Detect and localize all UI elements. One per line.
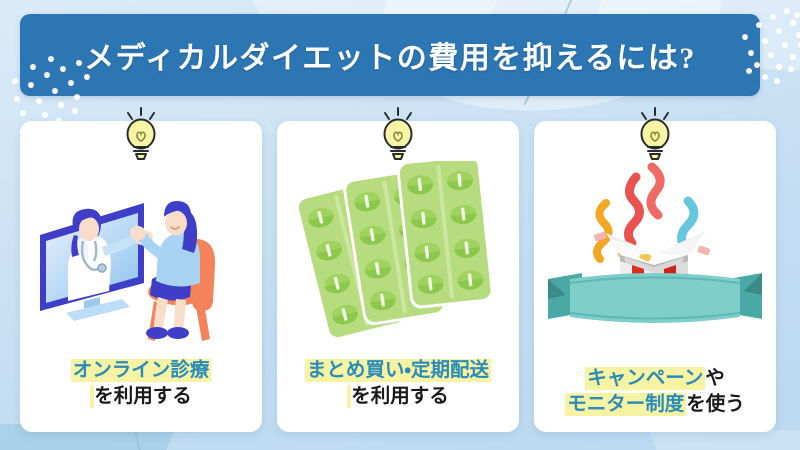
header-banner: メディカルダイエットの費用を抑えるには?	[20, 14, 760, 96]
caption-plain-1: や	[705, 368, 725, 389]
card-caption: まとめ買い・定期配送 を利用する	[277, 358, 519, 410]
caption-line-2: を利用する	[20, 384, 262, 410]
caption-plain-2: を利用する	[351, 386, 449, 407]
gift-box-with-confetti-illustration	[534, 161, 776, 351]
caption-line-2: を利用する	[277, 384, 519, 410]
caption-highlight-1: まとめ買い・定期配送	[305, 359, 491, 382]
tip-card-bulk-purchase[interactable]: まとめ買い・定期配送 を利用する	[277, 121, 519, 432]
online-medical-consultation-illustration	[20, 161, 262, 351]
card-caption: オンライン診療 を利用する	[20, 358, 262, 410]
caption-line-2: モニター制度を使う	[534, 392, 776, 418]
infographic-slide: メディカルダイエットの費用を抑えるには?	[0, 0, 800, 450]
caption-highlight-2: モニター制度	[565, 393, 686, 416]
tip-card-campaign-monitor[interactable]: キャンペーンや モニター制度を使う	[534, 121, 776, 432]
caption-highlight-1: オンライン診療	[71, 359, 212, 382]
lightbulb-icon	[115, 105, 167, 163]
tip-card-online-consultation[interactable]: オンライン診療 を利用する	[20, 121, 262, 432]
pill-blister-packs-illustration	[277, 161, 519, 351]
card-caption: キャンペーンや モニター制度を使う	[534, 366, 776, 418]
lightbulb-icon	[372, 105, 424, 163]
caption-line-1: まとめ買い・定期配送	[277, 358, 519, 384]
background-wedge-bottom-right	[649, 430, 800, 450]
page-title: メディカルダイエットの費用を抑えるには?	[20, 33, 760, 77]
caption-plain-2: を使う	[686, 394, 745, 415]
caption-plain-2: を利用する	[94, 386, 192, 407]
caption-line-1: オンライン診療	[20, 358, 262, 384]
lightbulb-icon	[629, 105, 681, 163]
caption-line-1: キャンペーンや	[534, 366, 776, 392]
caption-highlight-1: キャンペーン	[585, 367, 705, 390]
